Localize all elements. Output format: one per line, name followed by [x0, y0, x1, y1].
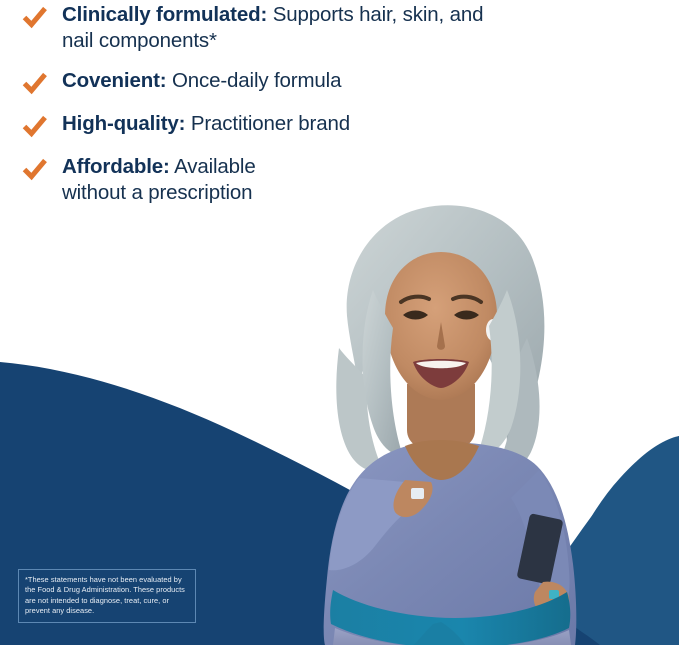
promo-banner: Clinically formulated: Supports hair, sk… — [0, 0, 679, 645]
benefit-item: High-quality: Practitioner brand — [0, 111, 520, 140]
benefit-rest: Once-daily formula — [166, 69, 341, 92]
check-icon — [22, 71, 48, 97]
benefit-text: High-quality: Practitioner brand — [62, 111, 350, 137]
benefit-item: Affordable: Available without a prescrip… — [0, 154, 520, 206]
benefit-item: Covenient: Once-daily formula — [0, 68, 520, 97]
benefit-lead: Covenient: — [62, 69, 166, 92]
benefit-lead: High-quality: — [62, 112, 185, 135]
benefit-text: Covenient: Once-daily formula — [62, 68, 341, 94]
benefit-lead: Clinically formulated: — [62, 3, 267, 26]
benefit-lead: Affordable: — [62, 155, 170, 178]
disclaimer-box: *These statements have not been evaluate… — [18, 569, 196, 623]
check-icon — [22, 114, 48, 140]
benefit-text: Affordable: Available without a prescrip… — [62, 154, 312, 206]
disclaimer-text: *These statements have not been evaluate… — [25, 575, 189, 617]
check-icon — [22, 5, 48, 31]
benefit-item: Clinically formulated: Supports hair, sk… — [0, 2, 520, 54]
benefits-list: Clinically formulated: Supports hair, sk… — [0, 0, 520, 220]
benefit-text: Clinically formulated: Supports hair, sk… — [62, 2, 520, 54]
benefit-rest: Practitioner brand — [185, 112, 350, 135]
check-icon — [22, 157, 48, 183]
